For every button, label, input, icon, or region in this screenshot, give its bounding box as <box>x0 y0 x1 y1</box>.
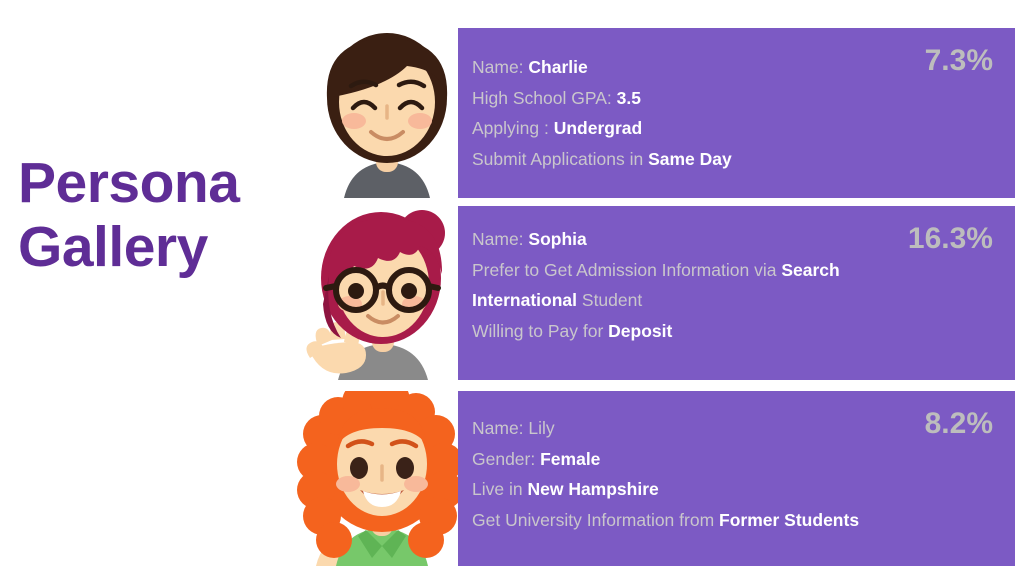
detail-label: Name: <box>472 57 524 77</box>
detail-value: Sophia <box>528 229 586 249</box>
detail-line: Name: Lily <box>472 413 993 444</box>
detail-line: Applying : Undergrad <box>472 113 993 144</box>
status-badge: 8.2% <box>925 407 993 441</box>
persona-row: 8.2% Name: Lily Gender: Female Live in N… <box>0 391 1032 566</box>
persona-details: Name: Lily Gender: Female Live in New Ha… <box>472 413 993 535</box>
detail-value: New Hampshire <box>527 479 658 499</box>
detail-label: Prefer to Get Admission Information via <box>472 260 776 280</box>
detail-label: Name: <box>472 229 524 249</box>
detail-value: Search <box>781 260 839 280</box>
detail-line: International Student <box>472 285 993 316</box>
persona-row: 16.3% Name: Sophia Prefer to Get Admissi… <box>0 206 1032 380</box>
persona-details: Name: Charlie High School GPA: 3.5 Apply… <box>472 52 993 174</box>
avatar-crimson-bun-glasses-waving <box>282 206 457 380</box>
detail-line: High School GPA: 3.5 <box>472 83 993 114</box>
detail-value: International <box>472 290 577 310</box>
detail-label: Name: Lily <box>472 418 555 438</box>
detail-label: Submit Applications in <box>472 149 643 169</box>
persona-gallery-slide: Persona Gallery <box>0 0 1032 573</box>
avatar-orange-curly-green-shirt <box>292 391 467 566</box>
detail-line: Name: Charlie <box>472 52 993 83</box>
detail-value: Undergrad <box>554 118 642 138</box>
detail-label: High School GPA: <box>472 88 612 108</box>
detail-label: Get University Information from <box>472 510 714 530</box>
detail-tail: Student <box>582 290 642 310</box>
detail-value: Deposit <box>608 321 672 341</box>
detail-value: Former Students <box>719 510 859 530</box>
detail-label: Live in <box>472 479 523 499</box>
detail-label: Applying : <box>472 118 549 138</box>
status-badge: 7.3% <box>925 44 993 78</box>
persona-row: 7.3% Name: Charlie High School GPA: 3.5 … <box>0 28 1032 198</box>
detail-line: Submit Applications in Same Day <box>472 144 993 175</box>
detail-line: Gender: Female <box>472 444 993 475</box>
detail-line: Prefer to Get Admission Information via … <box>472 255 993 286</box>
persona-card[interactable]: 7.3% Name: Charlie High School GPA: 3.5 … <box>458 28 1015 198</box>
avatar-brown-bob-closed-eyes <box>300 28 475 198</box>
detail-label: Willing to Pay for <box>472 321 603 341</box>
detail-line: Willing to Pay for Deposit <box>472 316 993 347</box>
persona-card[interactable]: 16.3% Name: Sophia Prefer to Get Admissi… <box>458 206 1015 380</box>
detail-value: 3.5 <box>617 88 641 108</box>
detail-line: Live in New Hampshire <box>472 474 993 505</box>
status-badge: 16.3% <box>908 222 993 256</box>
detail-value: Same Day <box>648 149 732 169</box>
detail-line: Get University Information from Former S… <box>472 505 993 536</box>
detail-label: Gender: <box>472 449 535 469</box>
detail-value: Charlie <box>528 57 587 77</box>
detail-value: Female <box>540 449 600 469</box>
persona-card[interactable]: 8.2% Name: Lily Gender: Female Live in N… <box>458 391 1015 566</box>
